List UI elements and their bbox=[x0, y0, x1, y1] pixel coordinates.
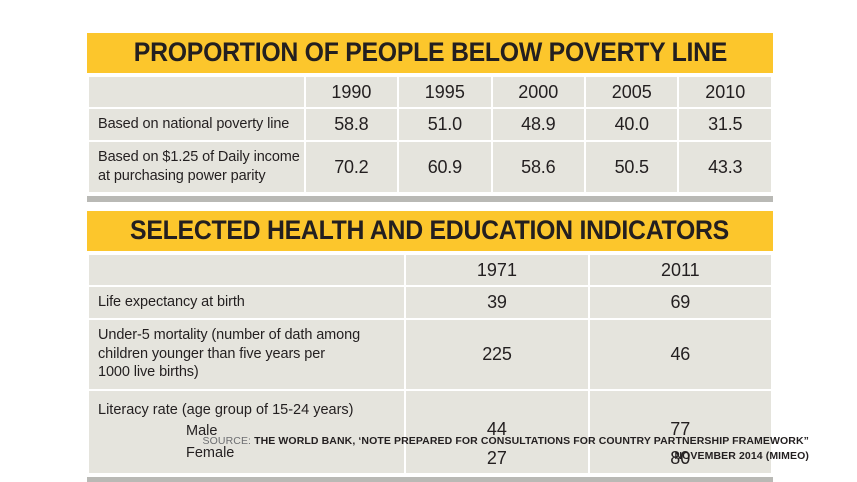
cell-national-2005: 40.0 bbox=[586, 109, 677, 140]
table-1-title: PROPORTION OF PEOPLE BELOW POVERTY LINE bbox=[133, 39, 726, 66]
table-row: Life expectancy at birth 39 69 bbox=[89, 287, 771, 318]
table-row: Based on $1.25 of Daily income at purcha… bbox=[89, 142, 771, 192]
table-1-header-blank bbox=[89, 77, 304, 107]
row-label-national-poverty-line: Based on national poverty line bbox=[89, 109, 304, 140]
source-footer: SOURCE: THE WORLD BANK, ‘NOTE PREPARED F… bbox=[0, 434, 857, 464]
row-label-line-3: 1000 live births) bbox=[98, 363, 404, 382]
cell-ppp-1990: 70.2 bbox=[306, 142, 397, 192]
row-label-line-1: Based on $1.25 of Daily income bbox=[98, 148, 304, 167]
cell-national-1995: 51.0 bbox=[399, 109, 490, 140]
cell-life-expectancy-2011: 69 bbox=[590, 287, 771, 318]
table-1-header-2010: 2010 bbox=[679, 77, 771, 107]
row-label-life-expectancy: Life expectancy at birth bbox=[89, 287, 404, 318]
table-1-header-2000: 2000 bbox=[493, 77, 584, 107]
table-1-header-2005: 2005 bbox=[586, 77, 677, 107]
table-2-title: SELECTED HEALTH AND EDUCATION INDICATORS bbox=[131, 217, 730, 244]
row-label-under-5-mortality: Under-5 mortality (number of dath among … bbox=[89, 320, 404, 389]
cell-ppp-2000: 58.6 bbox=[493, 142, 584, 192]
literacy-rate-title: Literacy rate (age group of 15-24 years) bbox=[98, 401, 404, 420]
cell-under-5-mortality-1971: 225 bbox=[406, 320, 587, 389]
cell-ppp-2005: 50.5 bbox=[586, 142, 677, 192]
table-1-header-1990: 1990 bbox=[306, 77, 397, 107]
row-label-line-1: Under-5 mortality (number of dath among bbox=[98, 326, 404, 345]
cell-national-2010: 31.5 bbox=[679, 109, 771, 140]
table-1-header-1995: 1995 bbox=[399, 77, 490, 107]
source-citation-line-1: THE WORLD BANK, ‘NOTE PREPARED FOR CONSU… bbox=[254, 435, 809, 447]
table-row: Under-5 mortality (number of dath among … bbox=[89, 320, 771, 389]
source-citation-line-2: NOVEMBER 2014 (MIMEO) bbox=[0, 449, 809, 464]
poverty-line-table: 1990 1995 2000 2005 2010 Based on nation… bbox=[87, 75, 773, 194]
cell-life-expectancy-1971: 39 bbox=[406, 287, 587, 318]
table-row-header: 1971 2011 bbox=[89, 255, 771, 285]
table-2-header-2011: 2011 bbox=[590, 255, 771, 285]
row-label-line-2: children younger than five years per bbox=[98, 345, 404, 364]
source-label: SOURCE: bbox=[203, 435, 252, 447]
table-1-banner: PROPORTION OF PEOPLE BELOW POVERTY LINE bbox=[87, 33, 773, 73]
cell-national-1990: 58.8 bbox=[306, 109, 397, 140]
row-label-ppp-daily-income: Based on $1.25 of Daily income at purcha… bbox=[89, 142, 304, 192]
cell-ppp-1995: 60.9 bbox=[399, 142, 490, 192]
table-2-closing-bar bbox=[87, 477, 773, 482]
row-label-line-2: at purchasing power parity bbox=[98, 167, 304, 186]
table-row-header: 1990 1995 2000 2005 2010 bbox=[89, 77, 771, 107]
table-2-header-blank bbox=[89, 255, 404, 285]
infographic-container: PROPORTION OF PEOPLE BELOW POVERTY LINE … bbox=[87, 33, 773, 482]
cell-national-2000: 48.9 bbox=[493, 109, 584, 140]
table-row: Based on national poverty line 58.8 51.0… bbox=[89, 109, 771, 140]
section-gap bbox=[87, 202, 773, 211]
cell-ppp-2010: 43.3 bbox=[679, 142, 771, 192]
cell-under-5-mortality-2011: 46 bbox=[590, 320, 771, 389]
table-2-header-1971: 1971 bbox=[406, 255, 587, 285]
infographic-page: PROPORTION OF PEOPLE BELOW POVERTY LINE … bbox=[0, 0, 857, 482]
table-2-banner: SELECTED HEALTH AND EDUCATION INDICATORS bbox=[87, 211, 773, 251]
